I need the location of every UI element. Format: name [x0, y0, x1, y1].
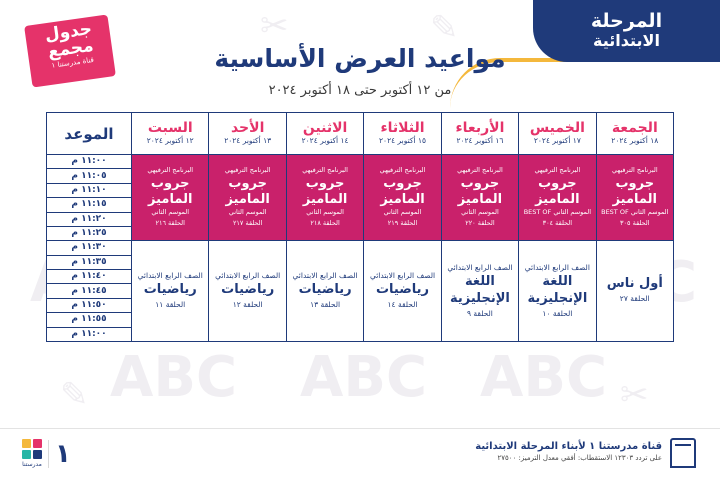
subject-title: رياضيات — [364, 282, 440, 299]
schedule-table: الجمعة ١٨ أكتوبر ٢٠٢٤ الخميس ١٧ أكتوبر ٢… — [46, 112, 674, 342]
subject-episode: الحلقة ١٢ — [209, 299, 285, 312]
day-date: ١٨ أكتوبر ٢٠٢٤ — [597, 135, 673, 146]
day-header-cell: الأربعاء ١٦ أكتوبر ٢٠٢٤ — [441, 113, 518, 155]
subject-cell: الصف الرابع الابتدائي رياضيات الحلقة ١٢ — [209, 241, 286, 342]
subject-title: رياضيات — [209, 282, 285, 299]
day-header-cell: الاثنين ١٤ أكتوبر ٢٠٢٤ — [286, 113, 363, 155]
program-label: البرنامج الترفيهي — [597, 166, 673, 176]
program-episode: الحلقة ٣٠٥ — [597, 217, 673, 229]
program-title: جروب الماميز — [364, 176, 440, 209]
page-title: مواعيد العرض الأساسية — [0, 44, 720, 73]
subject-cell: الصف الرابع الابتدائي رياضيات الحلقة ١٣ — [286, 241, 363, 342]
subject-title: رياضيات — [132, 282, 208, 299]
program-cell: البرنامج الترفيهي جروب الماميز الموسم ال… — [209, 155, 286, 241]
program-episode: الحلقة ٢١٨ — [287, 217, 363, 229]
subject-episode: الحلقة ٢٧ — [597, 293, 673, 306]
day-name: الأحد — [209, 121, 285, 136]
time-slot: ١١:٤٠ م — [47, 270, 131, 284]
time-slot: ١١:١٠ م — [47, 184, 131, 198]
program-label: البرنامج الترفيهي — [442, 166, 518, 176]
day-header-cell: الخميس ١٧ أكتوبر ٢٠٢٤ — [519, 113, 596, 155]
day-date: ١٦ أكتوبر ٢٠٢٤ — [442, 135, 518, 146]
program-episode: الحلقة ٢١٩ — [364, 217, 440, 229]
program-season: الموسم الثاني BEST OF — [597, 208, 673, 217]
program-season: الموسم الثاني — [209, 208, 285, 217]
subject-cell: الصف الرابع الابتدائي رياضيات الحلقة ١١ — [132, 241, 209, 342]
subject-title: اللغة الإنجليزية — [519, 274, 595, 308]
subject-grade: الصف الرابع الابتدائي — [287, 270, 363, 282]
program-season: الموسم الثاني — [364, 208, 440, 217]
subject-title: أول ناس — [597, 276, 673, 293]
program-row: البرنامج الترفيهي جروب الماميز الموسم ال… — [47, 155, 674, 241]
subject-cell: الصف الرابع الابتدائي اللغة الإنجليزية ا… — [441, 241, 518, 342]
footer-logo-grid — [22, 439, 42, 459]
program-season: الموسم الثاني — [442, 208, 518, 217]
program-cell: البرنامج الترفيهي جروب الماميز الموسم ال… — [519, 155, 596, 241]
subject-title: اللغة الإنجليزية — [442, 274, 518, 308]
program-label: البرنامج الترفيهي — [287, 166, 363, 176]
subject-episode: الحلقة ١٣ — [287, 299, 363, 312]
subject-cell: الصف الرابع الابتدائي اللغة الإنجليزية ا… — [519, 241, 596, 342]
day-date: ١٥ أكتوبر ٢٠٢٤ — [364, 135, 440, 146]
footer-divider — [48, 440, 49, 468]
subject-episode: الحلقة ٩ — [442, 308, 518, 321]
time-column-header: الموعد — [47, 113, 132, 155]
program-episode: الحلقة ٢١٦ — [132, 217, 208, 229]
program-time-column: ١١:٠٠ م ١١:٠٥ م ١١:١٠ م ١١:١٥ م ١١:٢٠ م … — [47, 155, 132, 241]
day-name: السبت — [132, 121, 208, 136]
day-header-cell: الأحد ١٣ أكتوبر ٢٠٢٤ — [209, 113, 286, 155]
time-slot: ١١:٣٠ م — [47, 241, 131, 255]
program-cell: البرنامج الترفيهي جروب الماميز الموسم ال… — [596, 155, 673, 241]
program-label: البرنامج الترفيهي — [209, 166, 285, 176]
time-slot: ١١:٢٠ م — [47, 213, 131, 227]
day-date: ١٢ أكتوبر ٢٠٢٤ — [132, 135, 208, 146]
time-slot: ١١:٥٥ م — [47, 313, 131, 327]
day-name: الثلاثاء — [364, 121, 440, 136]
subject-grade: الصف الرابع الابتدائي — [132, 270, 208, 282]
footer-logo: ١ مدرستنا — [22, 439, 71, 468]
program-label: البرنامج الترفيهي — [364, 166, 440, 176]
stage-banner-line1: المرحلة — [591, 12, 662, 32]
time-slot: ١١:٤٥ م — [47, 284, 131, 298]
program-title: جروب الماميز — [287, 176, 363, 209]
day-date: ١٧ أكتوبر ٢٠٢٤ — [519, 135, 595, 146]
day-name: الخميس — [519, 121, 595, 136]
subject-episode: الحلقة ١٤ — [364, 299, 440, 312]
program-title: جروب الماميز — [519, 176, 595, 209]
program-cell: البرنامج الترفيهي جروب الماميز الموسم ال… — [286, 155, 363, 241]
day-date: ١٣ أكتوبر ٢٠٢٤ — [209, 135, 285, 146]
program-cell: البرنامج الترفيهي جروب الماميز الموسم ال… — [364, 155, 441, 241]
day-name: الاثنين — [287, 121, 363, 136]
day-date: ١٤ أكتوبر ٢٠٢٤ — [287, 135, 363, 146]
footer-channel-info: قناة مدرستنا ١ لأبناء المرحلة الابتدائية… — [475, 438, 696, 468]
program-title: جروب الماميز — [132, 176, 208, 209]
footer-channel-details: على تردد ١٢٣٠٣ الاستقطاب: أفقي معدل التر… — [475, 452, 662, 465]
subject-cell: الصف الرابع الابتدائي رياضيات الحلقة ١٤ — [364, 241, 441, 342]
day-header-cell: الجمعة ١٨ أكتوبر ٢٠٢٤ — [596, 113, 673, 155]
subject-grade: الصف الرابع الابتدائي — [442, 262, 518, 274]
time-slot: ١١:٠٥ م — [47, 169, 131, 183]
subject-episode: الحلقة ١٠ — [519, 308, 595, 321]
program-season: الموسم الثاني — [287, 208, 363, 217]
program-title: جروب الماميز — [442, 176, 518, 209]
day-name: الأربعاء — [442, 121, 518, 136]
program-title: جروب الماميز — [209, 176, 285, 209]
program-episode: الحلقة ٢٢٠ — [442, 217, 518, 229]
time-slot: ١١:٥٠ م — [47, 299, 131, 313]
book-icon — [670, 438, 696, 468]
subject-title: رياضيات — [287, 282, 363, 299]
program-episode: الحلقة ٢١٧ — [209, 217, 285, 229]
subject-time-column: ١١:٣٠ م ١١:٣٥ م ١١:٤٠ م ١١:٤٥ م ١١:٥٠ م … — [47, 241, 132, 342]
program-season: الموسم الثاني BEST OF — [519, 208, 595, 217]
program-label: البرنامج الترفيهي — [132, 166, 208, 176]
footer-logo-caption: مدرستنا — [22, 461, 42, 468]
day-header-cell: الثلاثاء ١٥ أكتوبر ٢٠٢٤ — [364, 113, 441, 155]
program-title: جروب الماميز — [597, 176, 673, 209]
day-header-cell: السبت ١٢ أكتوبر ٢٠٢٤ — [132, 113, 209, 155]
schedule-table-wrapper: الجمعة ١٨ أكتوبر ٢٠٢٤ الخميس ١٧ أكتوبر ٢… — [46, 112, 674, 342]
subject-grade: الصف الرابع الابتدائي — [519, 262, 595, 274]
program-cell: البرنامج الترفيهي جروب الماميز الموسم ال… — [441, 155, 518, 241]
program-label: البرنامج الترفيهي — [519, 166, 595, 176]
subject-episode: الحلقة ١١ — [132, 299, 208, 312]
time-slot: ١١:٠٠ م — [47, 328, 131, 341]
subject-grade: الصف الرابع الابتدائي — [364, 270, 440, 282]
page-subtitle: من ١٢ أكتوبر حتى ١٨ أكتوبر ٢٠٢٤ — [0, 83, 720, 98]
program-season: الموسم الثاني — [132, 208, 208, 217]
table-header-row: الجمعة ١٨ أكتوبر ٢٠٢٤ الخميس ١٧ أكتوبر ٢… — [47, 113, 674, 155]
time-slot: ١١:٣٥ م — [47, 256, 131, 270]
footer-logo-number: ١ — [55, 441, 71, 467]
page-footer: قناة مدرستنا ١ لأبناء المرحلة الابتدائية… — [0, 428, 720, 481]
subject-cell: أول ناس الحلقة ٢٧ — [596, 241, 673, 342]
program-cell: البرنامج الترفيهي جروب الماميز الموسم ال… — [132, 155, 209, 241]
time-slot: ١١:٠٠ م — [47, 155, 131, 169]
day-name: الجمعة — [597, 121, 673, 136]
footer-channel-name: قناة مدرستنا ١ لأبناء المرحلة الابتدائية — [475, 441, 662, 452]
time-slot: ١١:٢٥ م — [47, 227, 131, 240]
program-episode: الحلقة ٣٠٤ — [519, 217, 595, 229]
subject-row: أول ناس الحلقة ٢٧ الصف الرابع الابتدائي … — [47, 241, 674, 342]
time-slot: ١١:١٥ م — [47, 198, 131, 212]
subject-grade: الصف الرابع الابتدائي — [209, 270, 285, 282]
